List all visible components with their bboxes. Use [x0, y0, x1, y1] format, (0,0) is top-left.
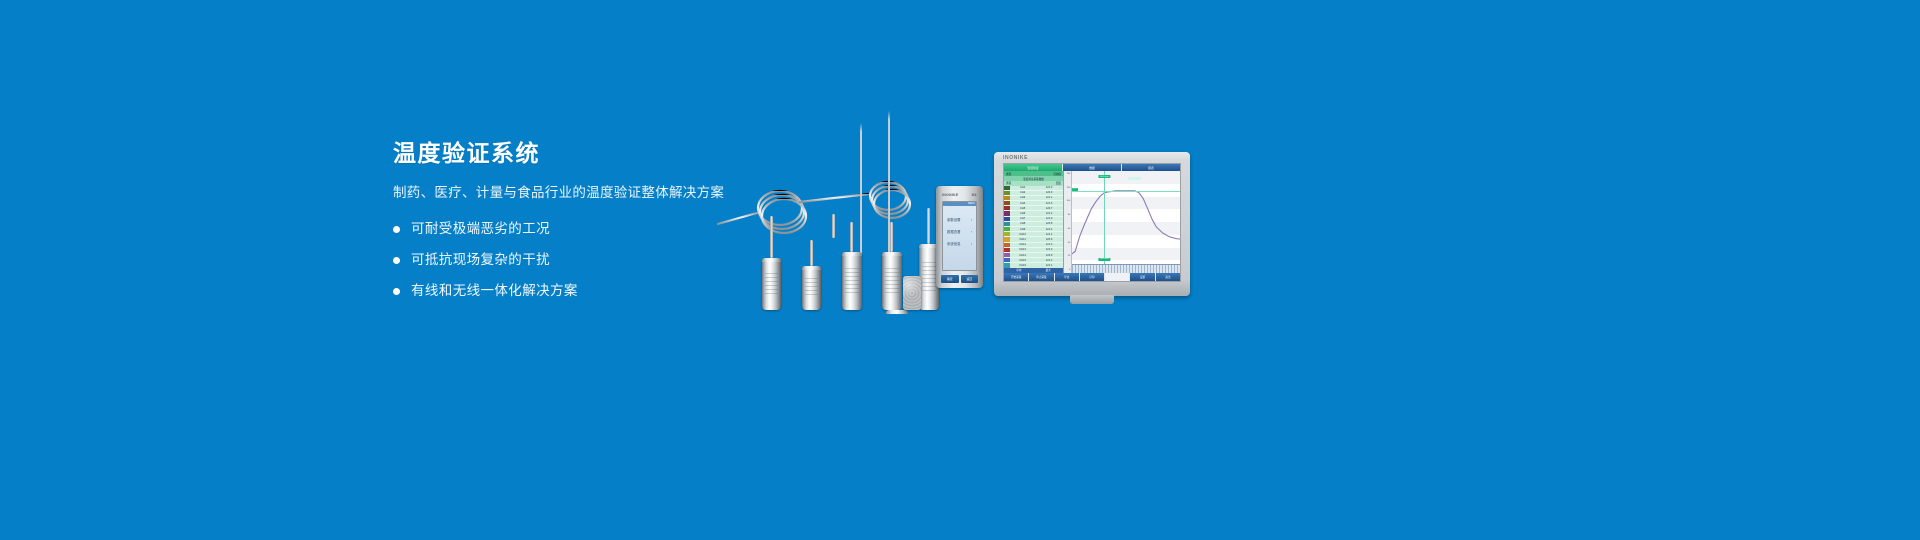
handheld-model: M1	[972, 193, 977, 197]
chevron-right-icon: ›	[971, 230, 972, 234]
chart-pill-marker	[1128, 177, 1141, 180]
probe-stem	[927, 208, 930, 244]
cell-temperature: 121.5	[1035, 202, 1063, 205]
data-logger-3	[842, 252, 862, 310]
cell-temperature: 120.7	[1035, 207, 1063, 210]
cell-temperature: 120.6	[1035, 238, 1063, 241]
cell-temperature: 121.1	[1035, 196, 1063, 199]
handheld-keypad: 确定 返回	[941, 275, 978, 283]
probe-stem	[832, 214, 835, 238]
temperature-curve	[1072, 171, 1180, 273]
cell-channel: CH13	[1010, 248, 1035, 251]
cell-temperature: 121.3	[1035, 186, 1063, 189]
cell-channel: CH9	[1010, 228, 1035, 231]
handheld-menu-item[interactable]: 参数设置 ›	[947, 217, 972, 222]
handheld-menu-label: 参数设置	[947, 217, 961, 222]
feature-label: 可抵抗现场复杂的干扰	[411, 251, 550, 270]
chart-horizontal-scrollbar[interactable]	[1072, 264, 1180, 273]
probe-stem	[810, 240, 813, 266]
software-body: 通道 当前值 温度验证采集数据 通道 温度 CH1121.3CH2120.9CH…	[1004, 171, 1180, 273]
cell-channel: CH5	[1010, 207, 1035, 210]
table-header-value: 当前值	[1053, 172, 1061, 176]
cell-temperature: 121.2	[1035, 259, 1063, 262]
cursor-label-top: 60.0 min	[1099, 175, 1110, 178]
feature-label: 可耐受极端恶劣的工况	[411, 220, 550, 239]
cell-temperature: 120.9	[1035, 254, 1063, 257]
monitor-stand	[1070, 295, 1114, 304]
handheld-menu-item[interactable]: 系统信息 ›	[947, 241, 972, 246]
software-action-button[interactable]	[1105, 273, 1129, 281]
chart-y-axis: 140120100806040200	[1064, 171, 1072, 273]
table-header-channel: 通道	[1006, 172, 1011, 176]
handheld-screen-title: MENU	[968, 202, 975, 205]
cell-temperature: 121.1	[1035, 233, 1063, 236]
validation-software-screen: 温度验证 数据 报表 通道 当前值 温度验证采集数据	[1003, 163, 1181, 282]
y-tick-label: 120	[1067, 187, 1071, 189]
y-tick-label: 60	[1068, 228, 1071, 230]
handheld-brand: INONIKE	[942, 193, 958, 197]
y-tick-label: 100	[1067, 200, 1071, 202]
tab-report[interactable]: 报表	[1122, 164, 1180, 171]
probe-stem	[890, 222, 893, 252]
bullet-dot-icon	[393, 257, 400, 264]
tab-temperature-validation[interactable]: 温度验证	[1004, 164, 1062, 171]
cell-channel: CH16	[1010, 264, 1035, 267]
cell-temperature: 120.8	[1035, 222, 1063, 225]
cell-temperature: 121.2	[1035, 212, 1063, 215]
cell-channel: CH3	[1010, 196, 1035, 199]
software-action-button[interactable]: 导出	[1055, 273, 1079, 281]
data-logger-2	[802, 266, 821, 310]
handheld-menu: 参数设置 › 数据查看 › 系统信息 ›	[943, 206, 976, 246]
monitor-bezel: INONIKE 温度验证 数据 报表 通道 当前值	[994, 152, 1190, 296]
monitor-device: INONIKE 温度验证 数据 报表 通道 当前值	[994, 152, 1190, 296]
handheld-reader-device[interactable]: INONIKE M1 MENU 参数设置 › 数据查看 ›	[936, 186, 983, 288]
cell-channel: CH7	[1010, 217, 1035, 220]
cell-temperature: 121.0	[1035, 248, 1063, 251]
data-logger-4	[882, 252, 902, 310]
product-image-group: INONIKE M1 MENU 参数设置 › 数据查看 ›	[700, 120, 1220, 310]
chevron-right-icon: ›	[971, 218, 972, 222]
limit-label: 121	[1072, 188, 1078, 191]
software-action-button[interactable]: 退出	[1156, 273, 1180, 281]
handheld-menu-label: 系统信息	[947, 241, 961, 246]
cell-channel: CH12	[1010, 243, 1035, 246]
bullet-dot-icon	[393, 226, 400, 233]
software-action-button[interactable]: 打印	[1080, 273, 1104, 281]
cell-channel: CH11	[1010, 238, 1035, 241]
monitor-brand: INONIKE	[1003, 155, 1028, 161]
handheld-titlebar: MENU	[943, 202, 976, 206]
y-tick-label: 140	[1067, 173, 1071, 175]
cell-channel: CH2	[1010, 191, 1035, 194]
hero-banner: 温度验证系统 制药、医疗、计量与食品行业的温度验证整体解决方案 可耐受极端恶劣的…	[0, 0, 1920, 540]
cell-temperature: 120.9	[1035, 191, 1063, 194]
y-tick-label: 0	[1069, 269, 1071, 271]
cell-temperature: 121.3	[1035, 243, 1063, 246]
y-tick-label: 40	[1068, 242, 1071, 244]
cell-channel: CH14	[1010, 254, 1035, 257]
cell-channel: CH15	[1010, 259, 1035, 262]
limit-line	[1072, 191, 1180, 192]
cell-temperature: 121.4	[1035, 228, 1063, 231]
cell-channel: CH1	[1010, 186, 1035, 189]
chevron-right-icon: ›	[971, 242, 972, 246]
probe-stem	[770, 216, 773, 258]
handheld-brand-row: INONIKE M1	[936, 193, 983, 197]
cell-channel: CH6	[1010, 212, 1035, 215]
cell-channel: CH10	[1010, 233, 1035, 236]
handheld-key-back[interactable]: 返回	[961, 275, 979, 283]
handheld-screen: MENU 参数设置 › 数据查看 › 系统信息 ›	[942, 201, 977, 271]
feature-label: 有线和无线一体化解决方案	[411, 282, 578, 301]
software-tab-bar: 温度验证 数据 报表	[1004, 164, 1180, 171]
handheld-menu-item[interactable]: 数据查看 ›	[947, 229, 972, 234]
cell-temperature: 121.0	[1035, 217, 1063, 220]
table-body[interactable]: CH1121.3CH2120.9CH3121.1CH4121.5CH5120.7…	[1004, 186, 1063, 269]
software-action-button[interactable]: 开始采集	[1004, 273, 1028, 281]
software-action-button[interactable]: 停止采集	[1029, 273, 1053, 281]
software-action-button[interactable]: 设置	[1130, 273, 1154, 281]
probe-stem	[850, 222, 853, 252]
cursor-label-bottom: 60.0 min	[1099, 258, 1110, 261]
handheld-key-confirm[interactable]: 确定	[941, 275, 959, 283]
cell-channel: CH8	[1010, 222, 1035, 225]
sintered-filter-cap	[903, 276, 921, 310]
y-tick-label: 20	[1068, 255, 1071, 257]
data-logger-1	[762, 258, 781, 310]
y-tick-label: 80	[1068, 214, 1071, 216]
temperature-chart: 140120100806040200 121 60.0 min	[1064, 171, 1180, 273]
cell-temperature: 121.1	[1035, 264, 1063, 267]
channel-data-table: 通道 当前值 温度验证采集数据 通道 温度 CH1121.3CH2120.9CH…	[1004, 171, 1064, 273]
tab-data[interactable]: 数据	[1063, 164, 1121, 171]
cell-channel: CH4	[1010, 202, 1035, 205]
chart-plot-area[interactable]: 121 60.0 min 60.0 min	[1072, 171, 1180, 273]
bullet-dot-icon	[393, 288, 400, 295]
software-button-bar: 开始采集停止采集导出打印设置退出	[1004, 273, 1180, 281]
handheld-menu-label: 数据查看	[947, 229, 961, 234]
